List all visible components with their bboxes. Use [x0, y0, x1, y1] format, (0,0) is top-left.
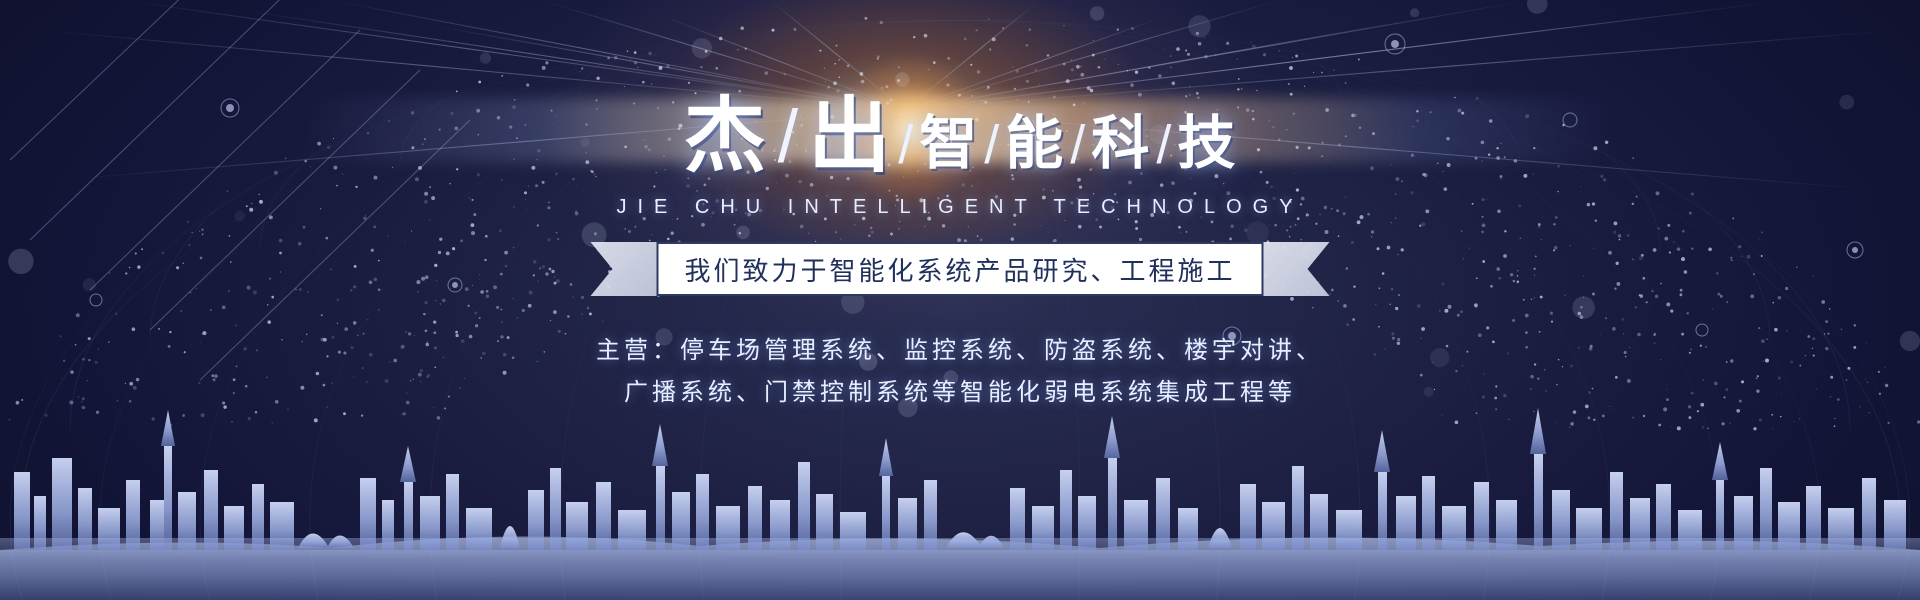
title-slash-5: /	[1150, 118, 1177, 178]
title-char-6: 技	[1177, 115, 1236, 178]
english-tagline: JIE CHU INTELLIGENT TECHNOLOGY	[0, 196, 1920, 219]
business-description: 主营：停车场管理系统、监控系统、防盗系统、楼宇对讲、 广播系统、门禁控制系统等智…	[0, 330, 1920, 414]
hero-banner: 杰 / 出 / 智 / 能 / 科 / 技 JIE CHU INTELLIGEN…	[0, 0, 1920, 600]
ribbon-tail-right	[1264, 242, 1330, 296]
banner-content: 杰 / 出 / 智 / 能 / 科 / 技 JIE CHU INTELLIGEN…	[0, 0, 1920, 600]
ribbon-text: 我们致力于智能化系统产品研究、工程施工	[684, 251, 1235, 288]
title-slash-1: /	[768, 100, 809, 178]
title-char-3: 智	[919, 115, 978, 178]
title-char-5: 科	[1091, 115, 1150, 178]
title-slash-4: /	[1064, 118, 1091, 178]
ribbon-banner: 我们致力于智能化系统产品研究、工程施工	[590, 242, 1329, 296]
title-char-2: 出	[808, 96, 892, 178]
brand-title: 杰 / 出 / 智 / 能 / 科 / 技	[0, 96, 1920, 178]
title-char-4: 能	[1005, 115, 1064, 178]
title-char-1: 杰	[684, 96, 768, 178]
description-line-1: 主营：停车场管理系统、监控系统、防盗系统、楼宇对讲、	[0, 330, 1920, 372]
ribbon-tail-left	[590, 242, 656, 296]
title-slash-3: /	[978, 118, 1005, 178]
title-slash-2: /	[892, 118, 919, 178]
description-line-2: 广播系统、门禁控制系统等智能化弱电系统集成工程等	[0, 372, 1920, 414]
ribbon-body: 我们致力于智能化系统产品研究、工程施工	[656, 242, 1263, 296]
